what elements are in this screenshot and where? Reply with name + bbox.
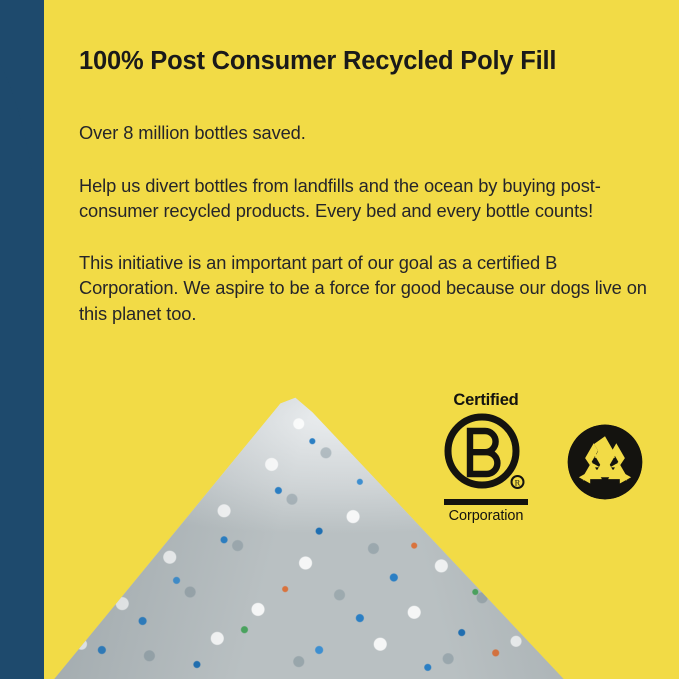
b-corp-certified-label: Certified — [443, 391, 529, 409]
promo-infographic: 100% Post Consumer Recycled Poly Fill Ov… — [0, 0, 679, 679]
navy-accent-fill — [0, 180, 44, 679]
paragraph-b-corp-goal: This initiative is an important part of … — [79, 250, 649, 327]
b-corp-divider-rule — [444, 499, 528, 505]
recycling-symbol-icon — [566, 423, 644, 501]
b-corp-corporation-label: Corporation — [443, 508, 529, 525]
paragraph-divert-bottles: Help us divert bottles from landfills an… — [79, 173, 627, 224]
text-content: 100% Post Consumer Recycled Poly Fill Ov… — [79, 0, 664, 326]
svg-text:R: R — [515, 478, 521, 488]
paragraph-bottles-saved: Over 8 million bottles saved. — [79, 120, 664, 146]
b-corp-logo: Certified R Corporation — [443, 391, 529, 525]
page-title: 100% Post Consumer Recycled Poly Fill — [79, 0, 664, 76]
b-corp-mark-icon: R — [443, 412, 529, 498]
